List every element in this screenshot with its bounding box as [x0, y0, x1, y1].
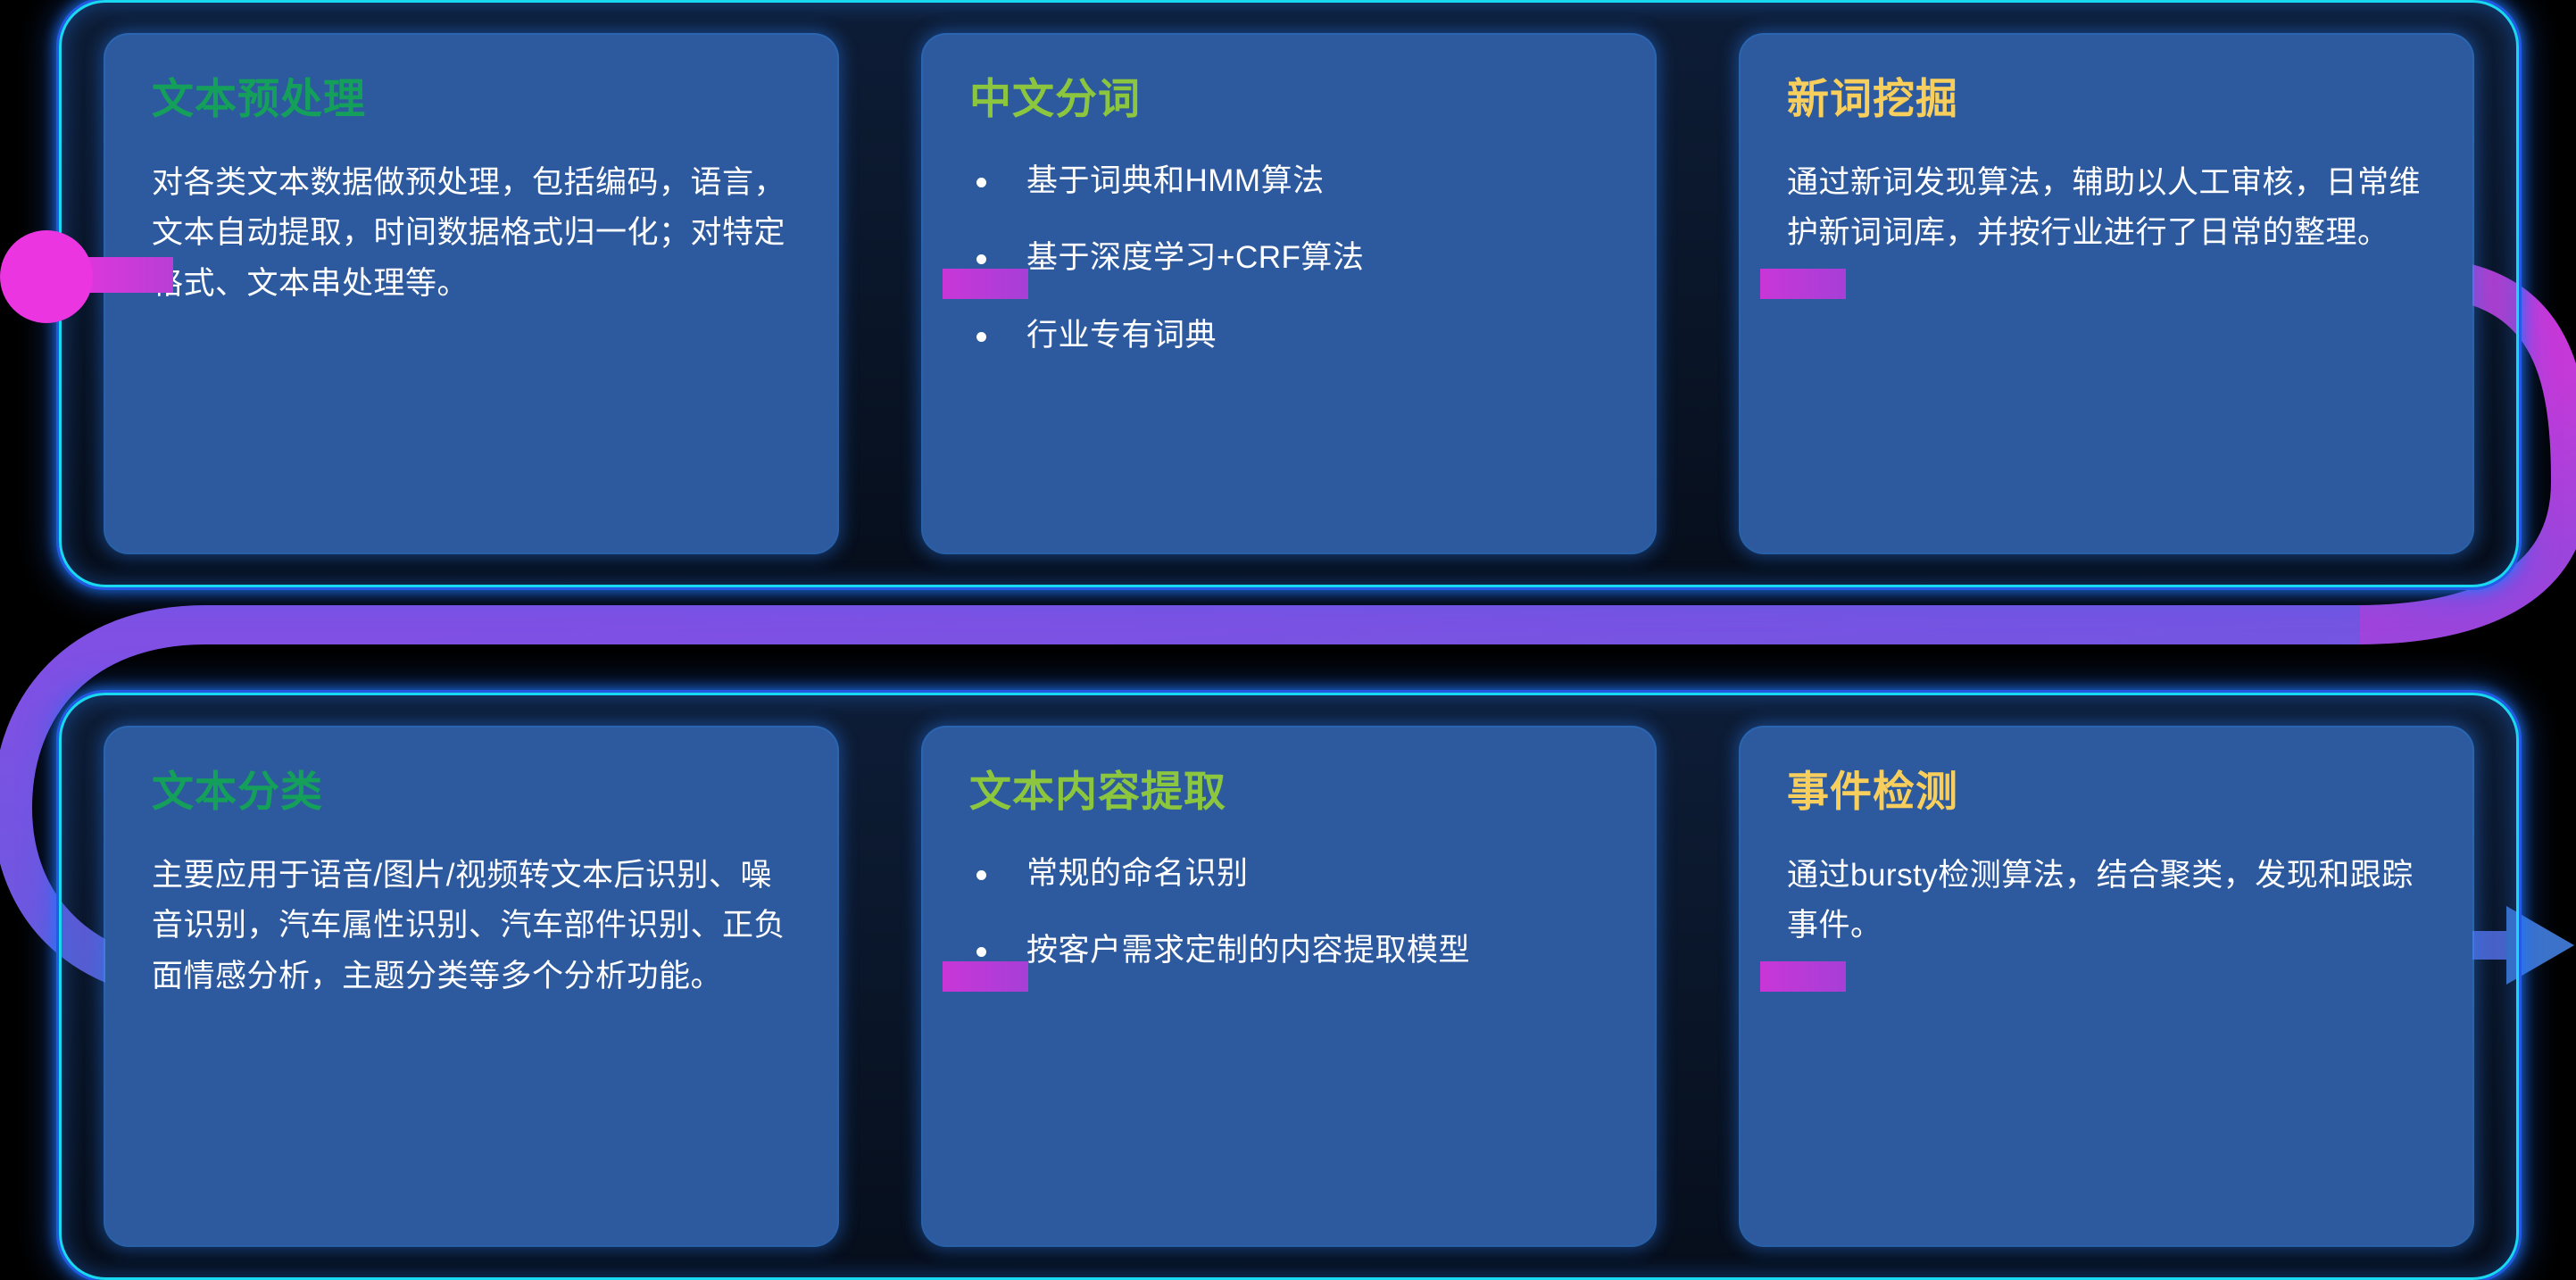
list-item-label: 常规的命名识别	[1026, 856, 1249, 891]
list-item: 按客户需求定制的内容提取模型	[969, 927, 1610, 975]
list-item: 常规的命名识别	[969, 851, 1610, 898]
card-body: 通过新词发现算法，辅助以人工审核，日常维护新词词库，并按行业进行了日常的整理。	[1787, 158, 2428, 259]
bottom-row: 文本分类 主要应用于语音/图片/视频转文本后识别、噪音识别，汽车属性识别、汽车部…	[105, 705, 2472, 1268]
list-item: 基于词典和HMM算法	[969, 158, 1610, 205]
card-title: 文本内容提取	[969, 769, 1610, 815]
card-text-classification[interactable]: 文本分类 主要应用于语音/图片/视频转文本后识别、噪音识别，汽车属性识别、汽车部…	[105, 727, 837, 1245]
list-item-label: 行业专有词典	[1026, 318, 1217, 353]
card-link-bar	[943, 269, 1028, 299]
list-item: 基于深度学习+CRF算法	[969, 235, 1610, 282]
bullet-dot-icon	[976, 178, 986, 187]
card-link-bar	[1760, 269, 1846, 299]
top-row: 文本预处理 对各类文本数据做预处理，包括编码，语言，文本自动提取，时间数据格式归…	[105, 12, 2472, 575]
card-body: 对各类文本数据做预处理，包括编码，语言，文本自动提取，时间数据格式归一化；对特定…	[152, 158, 793, 310]
bullet-dot-icon	[976, 254, 986, 264]
card-link-bar	[943, 961, 1028, 992]
card-title: 文本分类	[152, 769, 793, 815]
start-dot-icon	[0, 230, 93, 323]
card-body: 主要应用于语音/图片/视频转文本后识别、噪音识别，汽车属性识别、汽车部件识别、正…	[152, 851, 793, 1002]
card-body: 通过bursty检测算法，结合聚类，发现和跟踪事件。	[1787, 851, 2428, 952]
bullet-list: 常规的命名识别 按客户需求定制的内容提取模型	[969, 851, 1610, 975]
card-link-bar	[1760, 961, 1846, 992]
list-item-label: 按客户需求定制的内容提取模型	[1026, 933, 1470, 968]
card-title: 事件检测	[1787, 769, 2428, 815]
card-title: 中文分词	[969, 76, 1610, 122]
card-text-content-extraction[interactable]: 文本内容提取 常规的命名识别 按客户需求定制的内容提取模型	[923, 727, 1655, 1245]
card-chinese-word-segmentation[interactable]: 中文分词 基于词典和HMM算法 基于深度学习+CRF算法 行业专有词典	[923, 35, 1655, 553]
bullet-dot-icon	[976, 332, 986, 342]
bullet-dot-icon	[976, 870, 986, 880]
bullet-list: 基于词典和HMM算法 基于深度学习+CRF算法 行业专有词典	[969, 158, 1610, 360]
list-item: 行业专有词典	[969, 312, 1610, 360]
card-event-detection[interactable]: 事件检测 通过bursty检测算法，结合聚类，发现和跟踪事件。	[1741, 727, 2472, 1245]
card-new-word-discovery[interactable]: 新词挖掘 通过新词发现算法，辅助以人工审核，日常维护新词词库，并按行业进行了日常…	[1741, 35, 2472, 553]
card-title: 文本预处理	[152, 76, 793, 122]
bullet-dot-icon	[976, 947, 986, 957]
list-item-label: 基于词典和HMM算法	[1026, 163, 1325, 198]
card-title: 新词挖掘	[1787, 76, 2428, 122]
list-item-label: 基于深度学习+CRF算法	[1026, 240, 1364, 275]
card-text-preprocessing[interactable]: 文本预处理 对各类文本数据做预处理，包括编码，语言，文本自动提取，时间数据格式归…	[105, 35, 837, 553]
